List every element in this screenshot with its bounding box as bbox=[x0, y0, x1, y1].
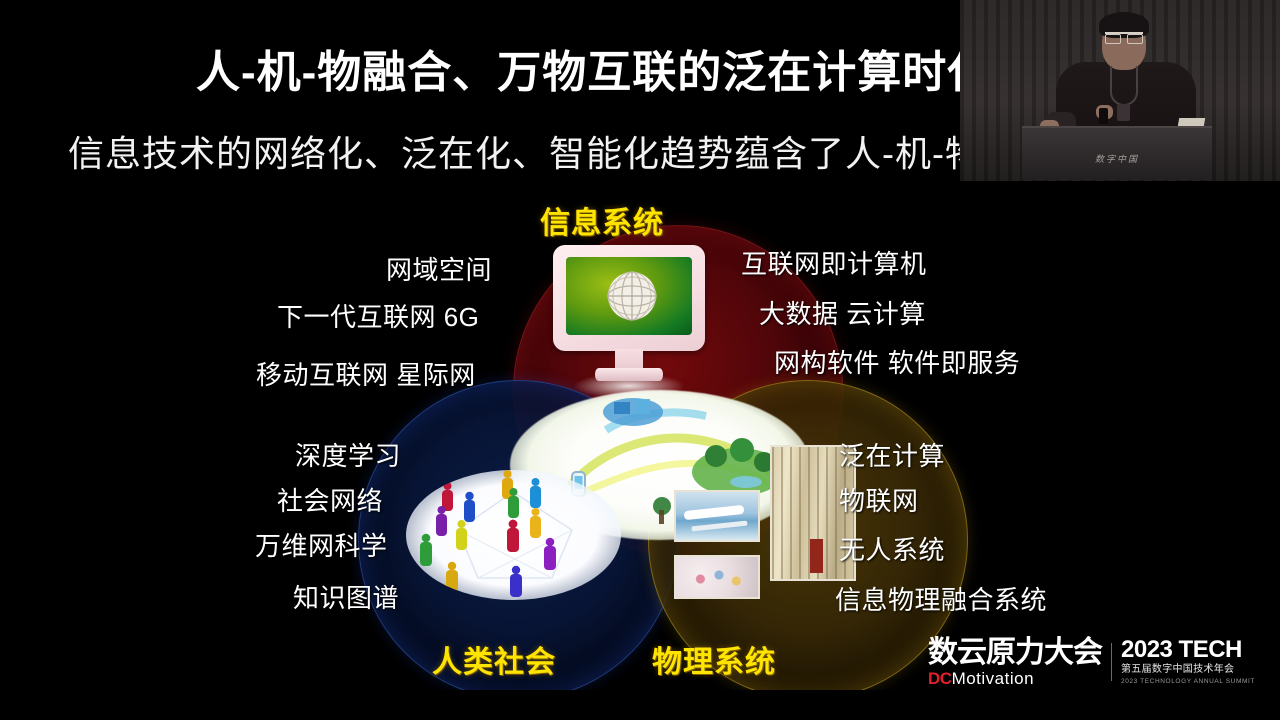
keyword-physical-right-0: 泛在计算 bbox=[839, 436, 945, 473]
keyword-physical-right-1: 物联网 bbox=[839, 481, 919, 518]
glasses-icon bbox=[1105, 32, 1143, 40]
logo-brand-cn: 数云原力大会 bbox=[928, 638, 1102, 668]
logo-event-en: 2023 TECHNOLOGY ANNUAL SUMMIT bbox=[1121, 677, 1255, 687]
keyword-human-left-1: 社会网络 bbox=[277, 481, 383, 518]
label-physical-system: 物理系统 bbox=[652, 637, 776, 681]
monitor-globe-icon bbox=[553, 245, 705, 385]
slide-subtitle: 信息技术的网络化、泛在化、智能化趋势蕴含了人-机-物 bbox=[68, 125, 982, 177]
keyword-human-left-2: 万维网科学 bbox=[255, 526, 388, 563]
keyword-physical-right-2: 无人系统 bbox=[839, 530, 945, 567]
keyword-human-left-0: 深度学习 bbox=[295, 436, 401, 473]
lanyard bbox=[1110, 66, 1138, 106]
logo-year-tech: 2023 TECH bbox=[1121, 638, 1255, 662]
badge bbox=[1117, 104, 1130, 121]
podium-text: 数字中国 bbox=[1060, 152, 1174, 165]
webcam-bottom-bar bbox=[960, 181, 1280, 185]
slide-title: 人-机-物融合、万物互联的泛在计算时代 bbox=[196, 36, 992, 100]
people-network-icon bbox=[406, 470, 621, 600]
logo-dc-text: DC bbox=[928, 670, 952, 687]
keyword-human-left-3: 知识图谱 bbox=[293, 578, 399, 615]
letterbox-bar bbox=[0, 690, 1280, 720]
logo-event-cn: 第五届数字中国技术年会 bbox=[1121, 662, 1255, 677]
globe-icon bbox=[605, 269, 659, 323]
label-information-system: 信息系统 bbox=[540, 198, 664, 242]
logo-motivation-text: Motivation bbox=[952, 670, 1034, 687]
presenter-remote bbox=[1099, 108, 1108, 124]
keyword-information-left-2: 移动互联网 星际网 bbox=[256, 355, 476, 392]
keyword-information-left-1: 下一代互联网 6G bbox=[277, 297, 479, 334]
keyword-information-right-0: 互联网即计算机 bbox=[741, 244, 927, 281]
keyword-information-right-1: 大数据 云计算 bbox=[759, 294, 926, 331]
conference-logo: 数云原力大会 DC Motivation 2023 TECH 第五届数字中国技术… bbox=[928, 636, 1255, 688]
keyword-information-right-2: 网构软件 软件即服务 bbox=[774, 343, 1020, 380]
keyword-physical-right-3: 信息物理融合系统 bbox=[835, 580, 1047, 617]
webcam-overlay[interactable]: 数字中国 bbox=[960, 0, 1280, 185]
aircraft-photo bbox=[674, 490, 760, 542]
molecule-photo bbox=[674, 555, 760, 599]
label-human-society: 人类社会 bbox=[432, 637, 556, 681]
logo-divider bbox=[1111, 643, 1112, 681]
keyword-information-left-0: 网域空间 bbox=[386, 250, 492, 287]
